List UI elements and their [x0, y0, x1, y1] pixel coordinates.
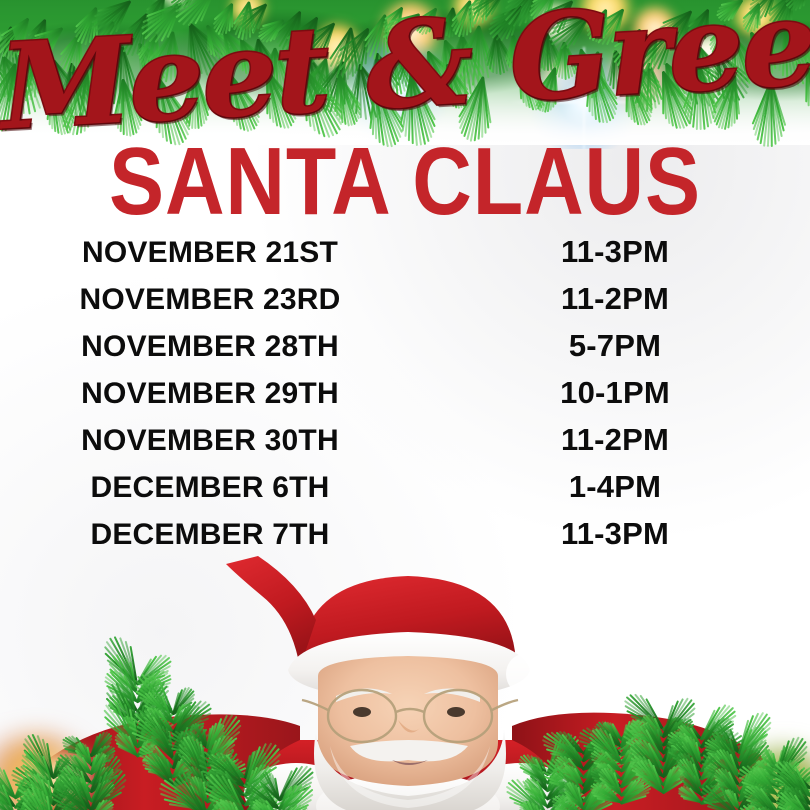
schedule-row: NOVEMBER 30TH11-2PM: [0, 422, 810, 469]
schedule-time: 10-1PM: [420, 375, 810, 411]
schedule-time: 5-7PM: [420, 328, 810, 364]
schedule-time: 11-3PM: [420, 234, 810, 270]
schedule-row: NOVEMBER 28TH5-7PM: [0, 328, 810, 375]
bottom-left-pine-branch: [0, 628, 316, 810]
schedule-time: 1-4PM: [420, 469, 810, 505]
schedule-date: DECEMBER 6TH: [0, 471, 420, 505]
schedule-row: NOVEMBER 23RD11-2PM: [0, 281, 810, 328]
schedule-time: 11-2PM: [420, 422, 810, 458]
page-title: SANTA CLAUS: [57, 138, 754, 226]
schedule-date: NOVEMBER 21ST: [0, 236, 420, 270]
poster-canvas: Meet & Greet SANTA CLAUS NOVEMBER 21ST11…: [0, 0, 810, 810]
schedule-list: NOVEMBER 21ST11-3PMNOVEMBER 23RD11-2PMNO…: [0, 234, 810, 563]
schedule-date: DECEMBER 7TH: [0, 518, 420, 552]
bottom-right-pine-branch: [524, 643, 810, 810]
schedule-date: NOVEMBER 29TH: [0, 377, 420, 411]
schedule-date: NOVEMBER 30TH: [0, 424, 420, 458]
schedule-date: NOVEMBER 23RD: [0, 283, 420, 317]
schedule-date: NOVEMBER 28TH: [0, 330, 420, 364]
schedule-time: 11-3PM: [420, 516, 810, 552]
schedule-row: DECEMBER 6TH1-4PM: [0, 469, 810, 516]
schedule-row: NOVEMBER 21ST11-3PM: [0, 234, 810, 281]
schedule-row: NOVEMBER 29TH10-1PM: [0, 375, 810, 422]
schedule-time: 11-2PM: [420, 281, 810, 317]
